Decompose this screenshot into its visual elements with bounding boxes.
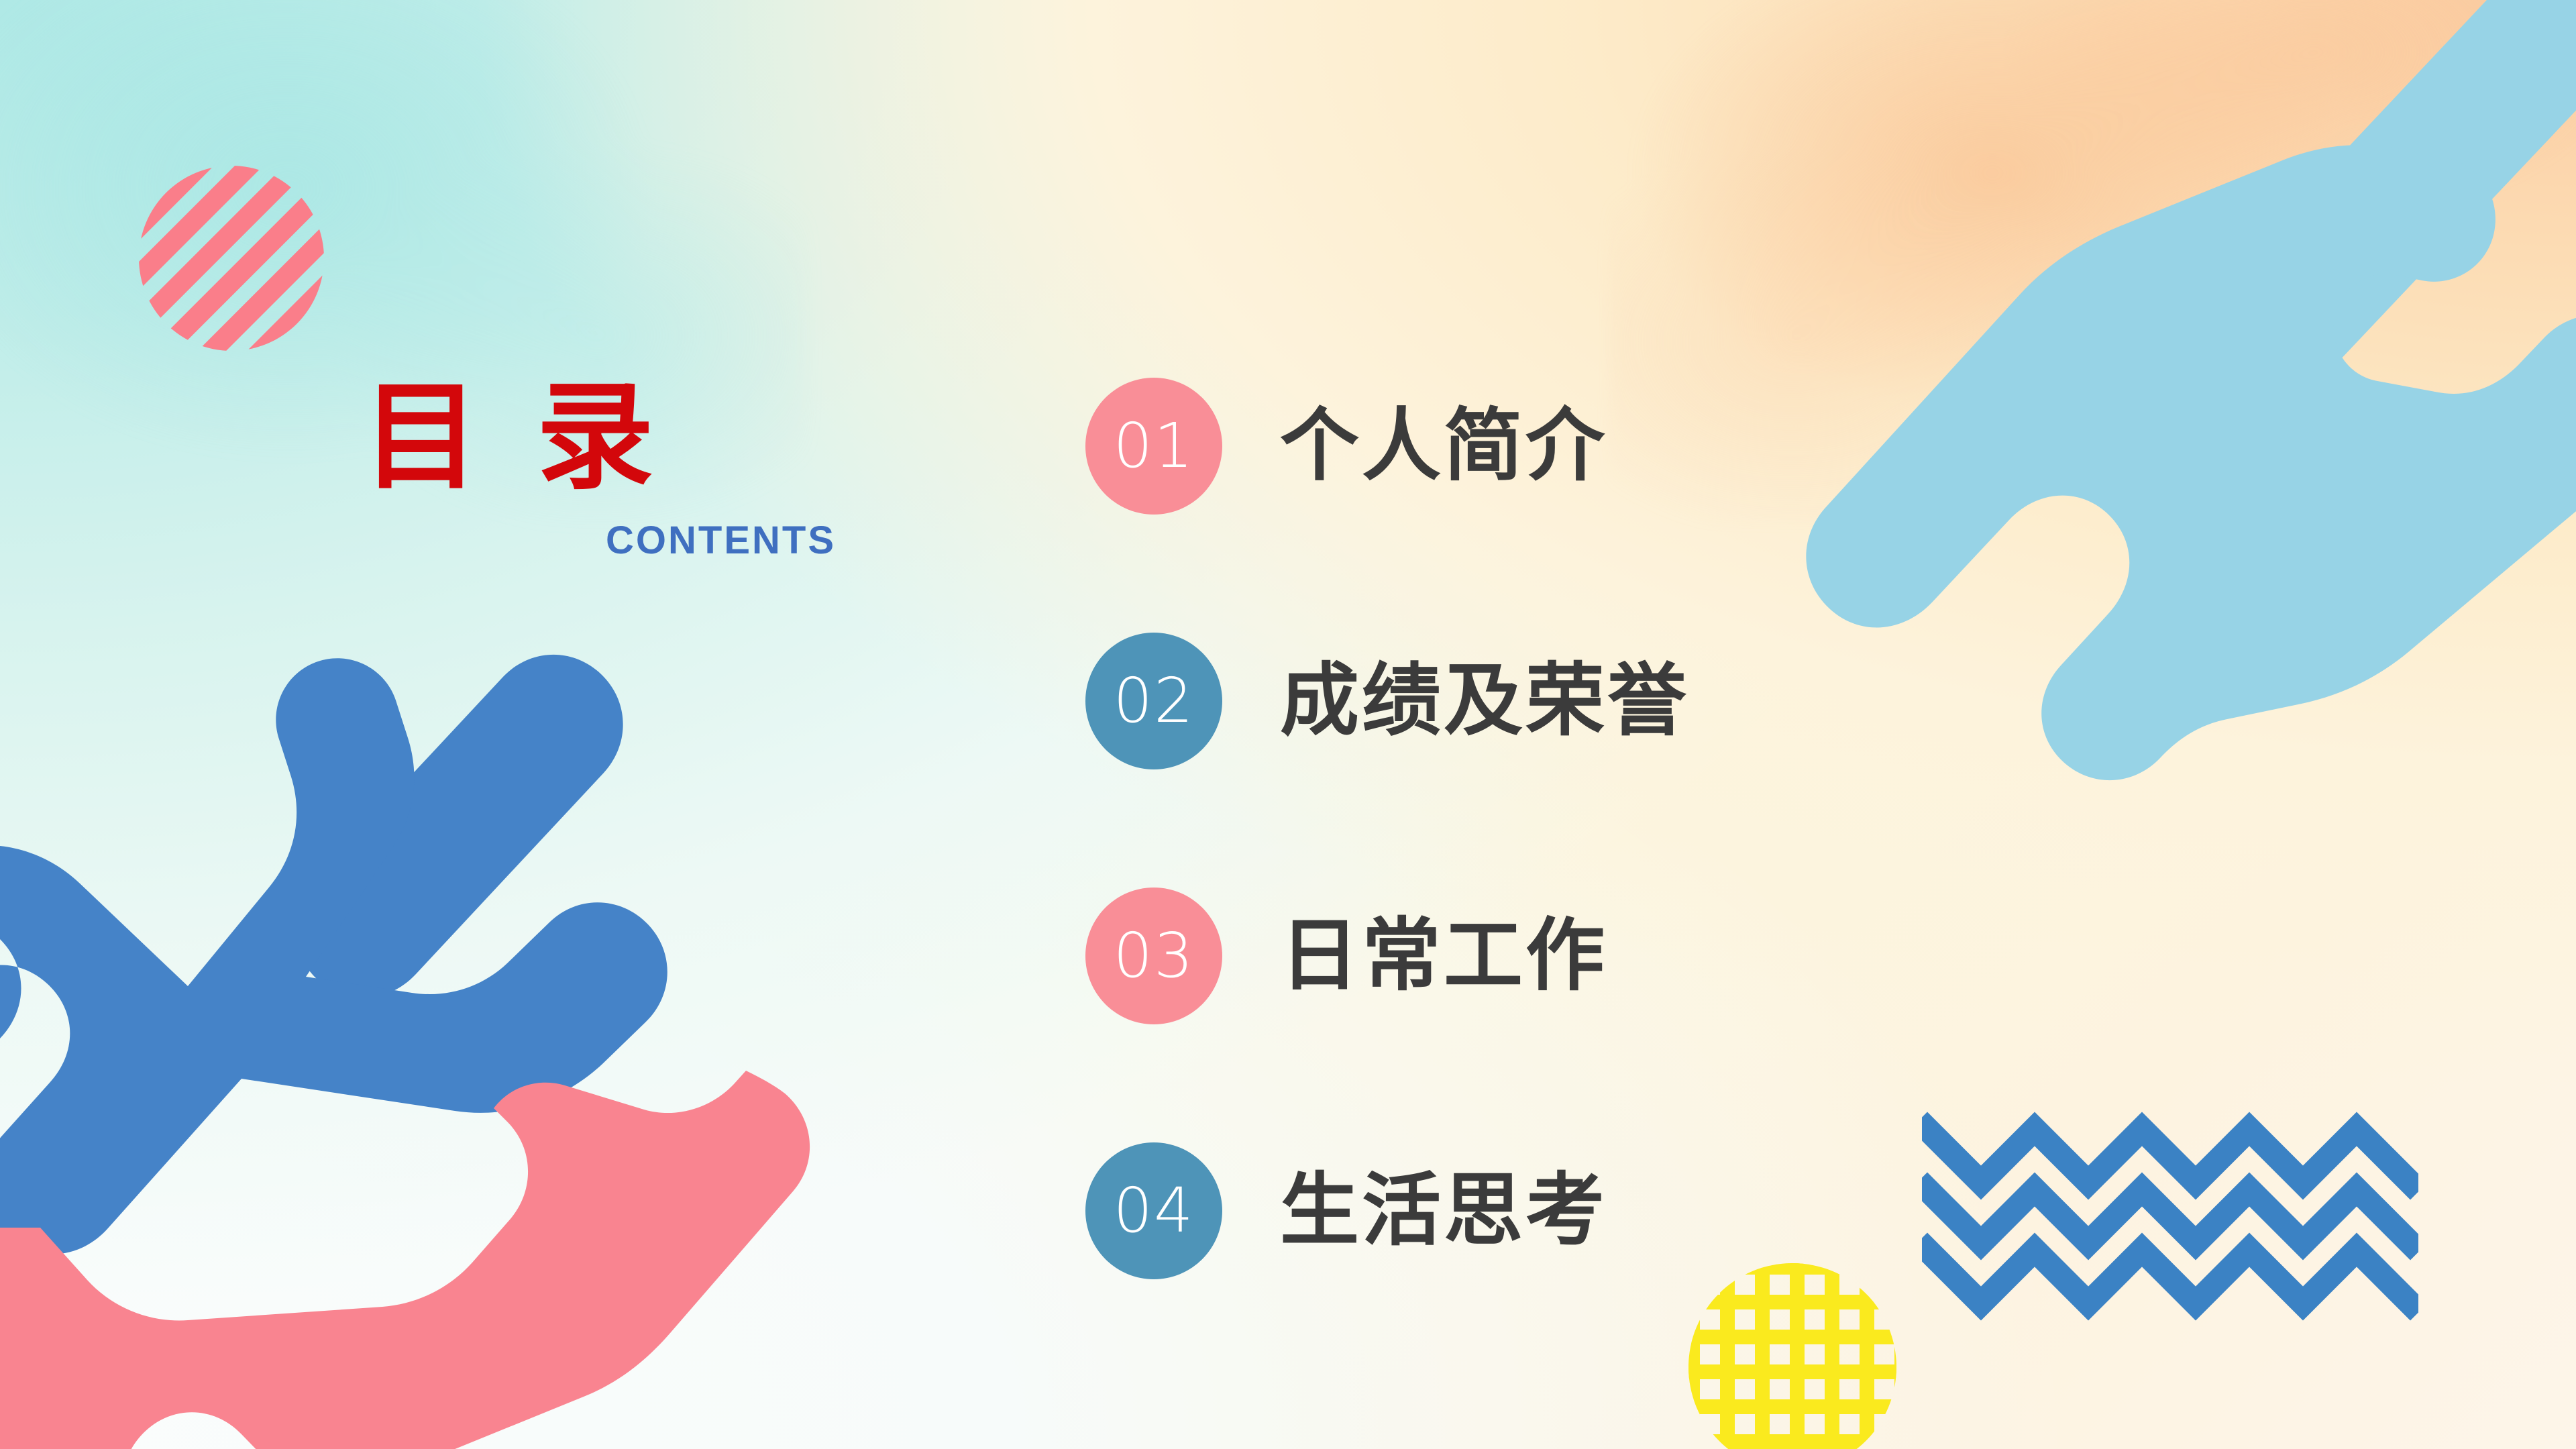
- page-title-cn: 目 录: [362, 376, 845, 500]
- agenda-item-02[interactable]: 02 成绩及荣誉: [1085, 623, 2058, 780]
- agenda-number-badge-04: 04: [1085, 1142, 1222, 1279]
- agenda-item-04[interactable]: 04 生活思考: [1085, 1132, 2058, 1289]
- page-title-en: CONTENTS: [362, 518, 845, 563]
- agenda-number-badge-01: 01: [1085, 378, 1222, 515]
- agenda-item-01[interactable]: 01 个人简介: [1085, 368, 2058, 525]
- agenda-item-03[interactable]: 03 日常工作: [1085, 877, 2058, 1034]
- agenda-list: 01 个人简介 02 成绩及荣誉 03 日常工作 04 生活思考: [1085, 368, 2058, 1289]
- agenda-number-badge-02: 02: [1085, 633, 1222, 769]
- title-block: 目 录 CONTENTS: [362, 376, 845, 563]
- slide-canvas: 目 录 CONTENTS 01 个人简介 02 成绩及荣誉 03 日常工作 04…: [0, 0, 2576, 1449]
- agenda-label-03: 日常工作: [1280, 916, 1607, 996]
- agenda-number-badge-03: 03: [1085, 888, 1222, 1024]
- agenda-label-02: 成绩及荣誉: [1280, 661, 1689, 741]
- agenda-label-01: 个人简介: [1280, 407, 1607, 486]
- agenda-label-04: 生活思考: [1280, 1171, 1607, 1250]
